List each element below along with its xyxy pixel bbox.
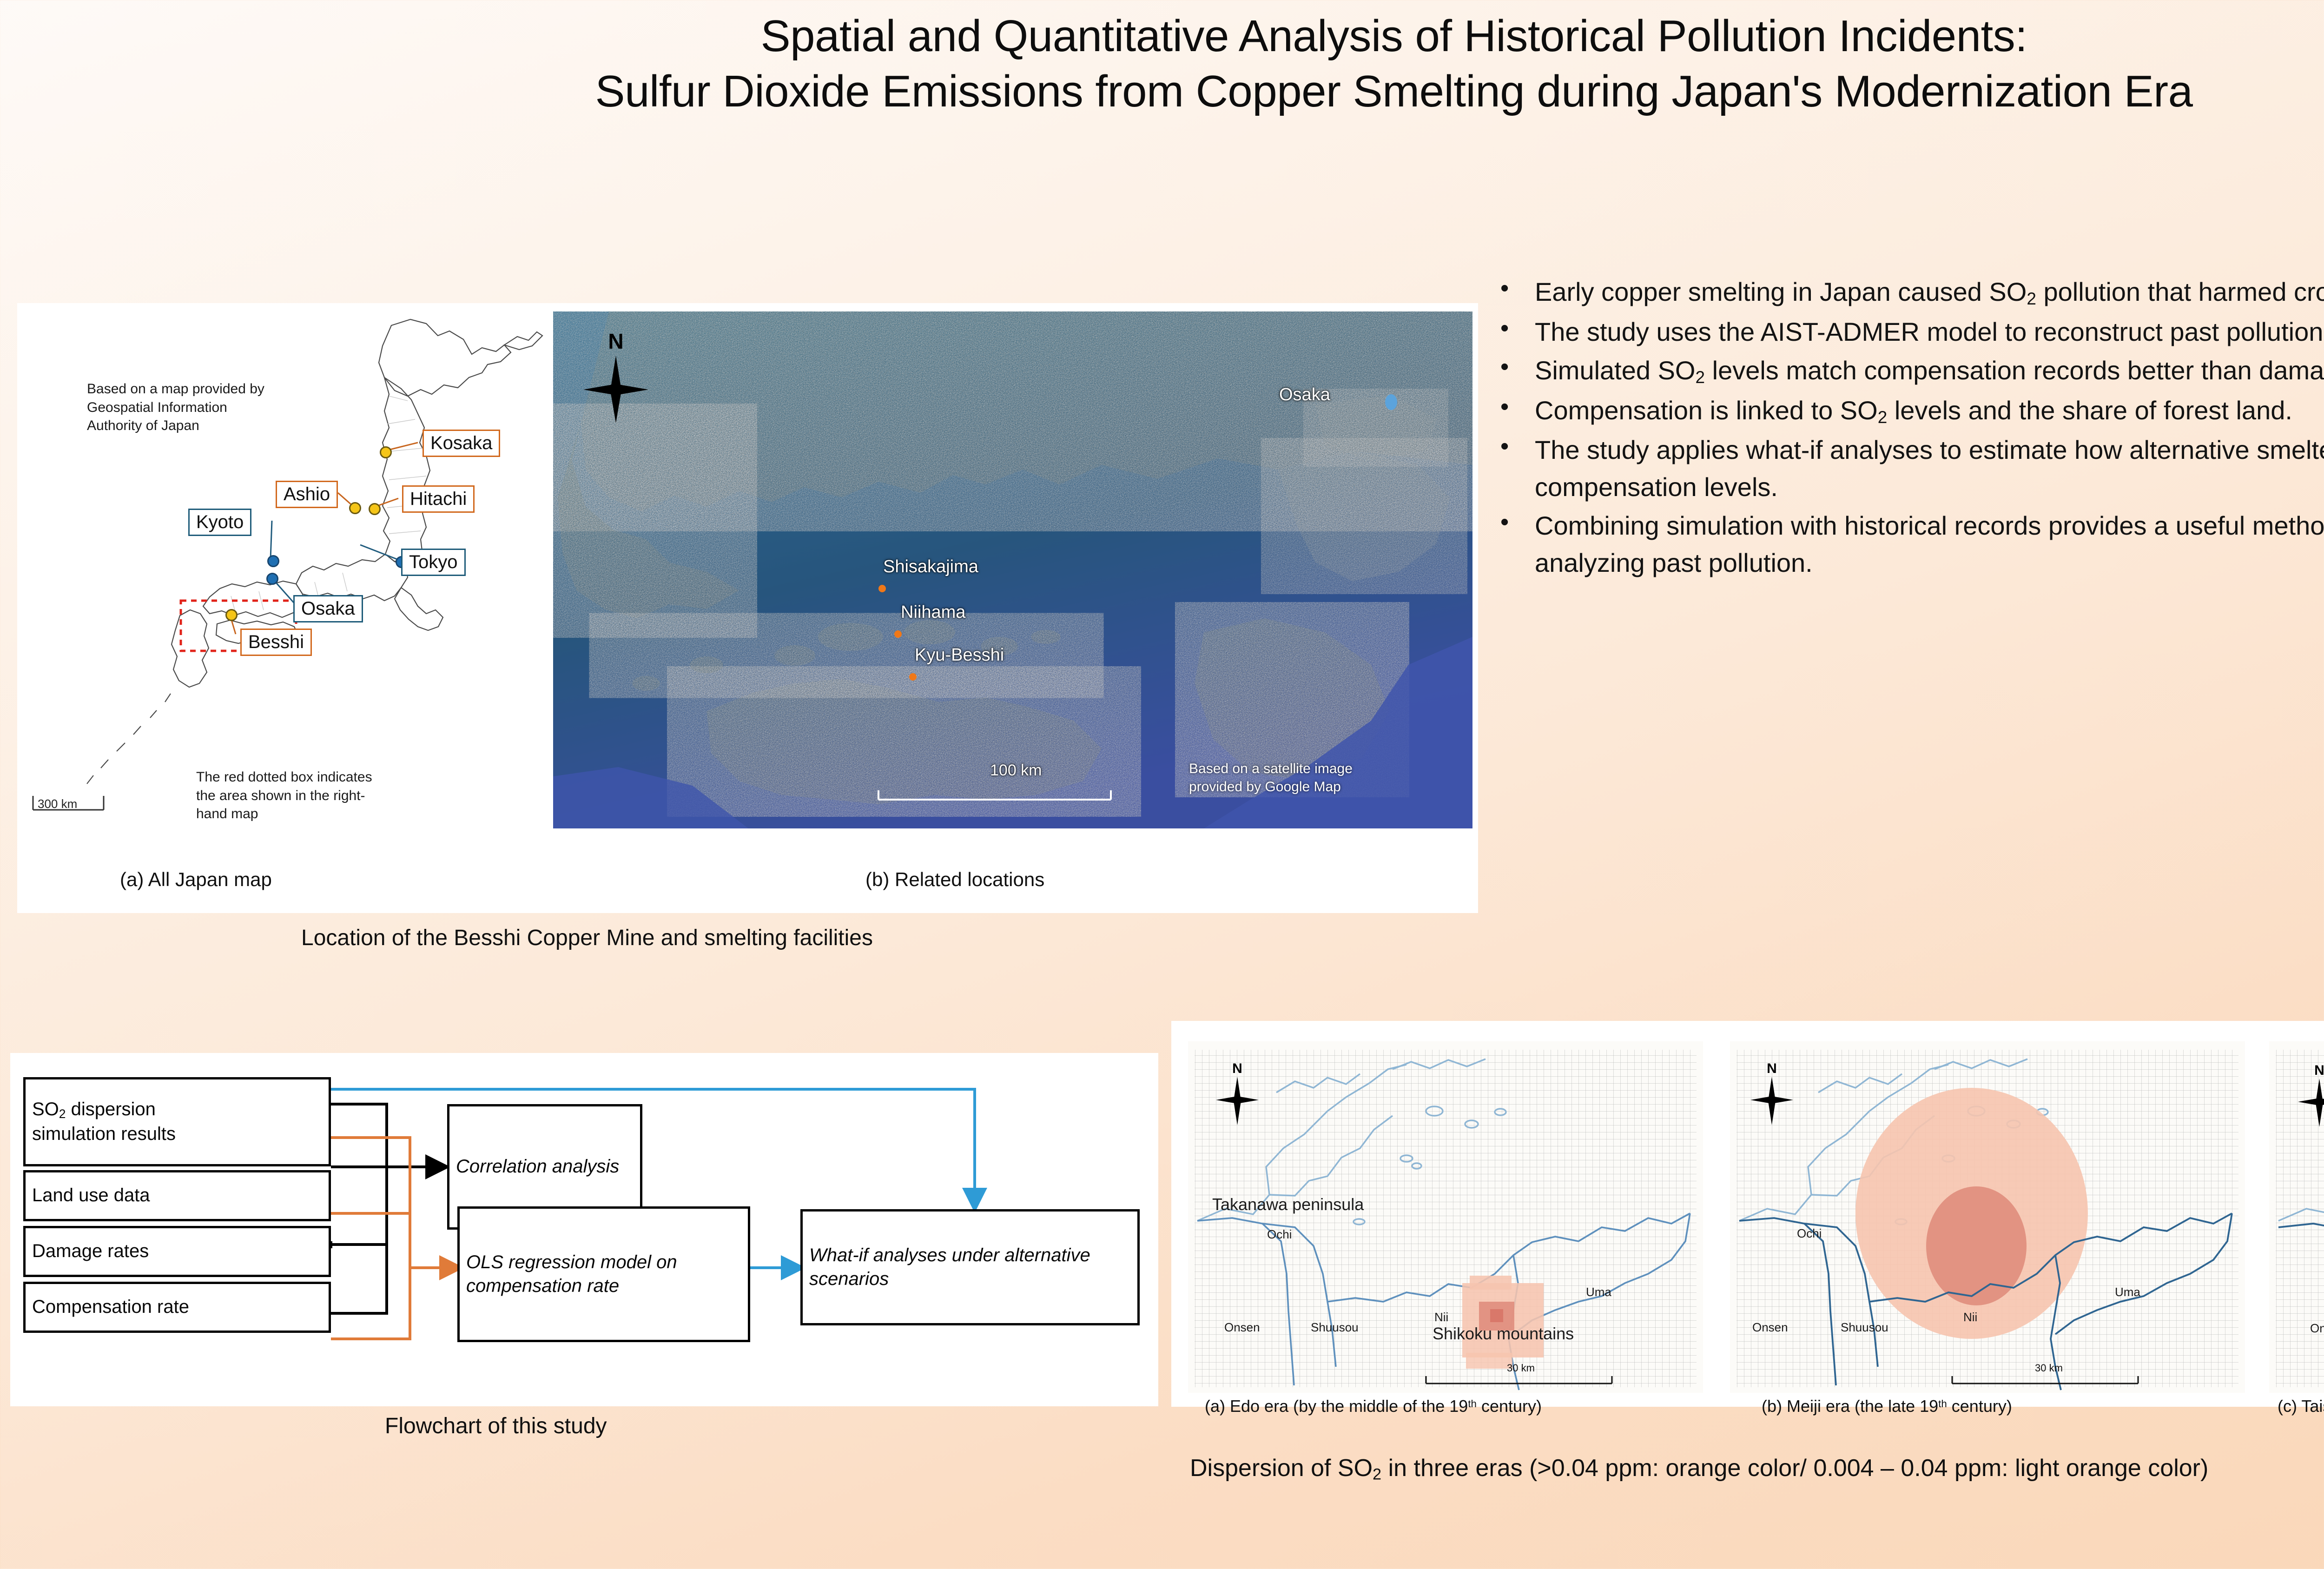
flow-box-correlation-analysis-label: Correlation analysis [449, 1155, 626, 1178]
key-findings-list: Early copper smelting in Japan caused SO… [1492, 273, 2324, 583]
japan-map-figure: Based on a map provided by Geospatial In… [17, 303, 547, 856]
flow-box-ols-regression: OLS regression model on compensation rat… [457, 1206, 750, 1342]
dispersion-label-shuusou: Shuusou [1841, 1320, 1888, 1335]
dispersion-label-uma: Uma [1586, 1285, 1611, 1299]
dispersion-label-onsen: Onsen [2310, 1321, 2324, 1336]
dispersion-caption-taisho: (c) Taishō era (the early 20th century) [2278, 1397, 2324, 1416]
map-label-ashio: Ashio [276, 481, 338, 508]
satellite-dot-niihama [894, 630, 902, 638]
dispersion-map-edo: N Takanawa peninsula Ochi Onsen Shuusou … [1188, 1041, 1703, 1393]
dispersion-caption-edo: (a) Edo era (by the middle of the 19th c… [1205, 1397, 1542, 1416]
subcaption-all-japan-map: (a) All Japan map [120, 868, 272, 891]
map-label-hitachi: Hitachi [402, 485, 475, 513]
dispersion-figure-caption: Dispersion of SO2 in three eras (>0.04 p… [1190, 1454, 2208, 1484]
svg-text:N: N [1232, 1061, 1242, 1076]
satellite-label-shisakajima: Shisakajima [883, 557, 978, 577]
svg-text:N: N [1767, 1061, 1777, 1076]
flow-box-compensation-rate: Compensation rate [23, 1282, 331, 1333]
flow-box-damage-rates: Damage rates [23, 1226, 331, 1277]
svg-text:N: N [2314, 1063, 2324, 1078]
dispersion-map-meiji-svg [1730, 1041, 2245, 1393]
bullet-item: Combining simulation with historical rec… [1492, 507, 2324, 581]
flowchart-figure: SO2 dispersionsimulation results Land us… [10, 1053, 1158, 1406]
city-dot-osaka [266, 573, 278, 585]
city-dot-kyoto [267, 555, 279, 567]
dispersion-label-shuusou: Shuusou [1311, 1320, 1359, 1335]
map-label-kosaka: Kosaka [423, 430, 500, 457]
flow-box-ols-regression-label: OLS regression model on compensation rat… [460, 1251, 748, 1298]
satellite-dot-kyu-besshi [909, 673, 917, 681]
site-dot-kosaka [380, 446, 392, 458]
dispersion-label-nii: Nii [1434, 1310, 1448, 1324]
dispersion-label-nii: Nii [1963, 1310, 1977, 1324]
map-label-tokyo: Tokyo [401, 549, 466, 576]
dispersion-label-ochi: Ochi [1267, 1227, 1292, 1242]
title-line-2: Sulfur Dioxide Emissions from Copper Sme… [0, 64, 2324, 119]
japan-map-source-note: Based on a map provided by Geospatial In… [87, 380, 264, 435]
map-label-besshi: Besshi [240, 629, 312, 656]
japan-map-redbox-note: The red dotted box indicates the area sh… [196, 768, 372, 823]
bullet-item: Compensation is linked to SO2 levels and… [1492, 392, 2324, 430]
flow-box-whatif-analyses: What-if analyses under alternative scena… [800, 1209, 1140, 1325]
flow-box-so2-dispersion: SO2 dispersionsimulation results [23, 1077, 331, 1166]
bullet-item: The study applies what-if analyses to es… [1492, 431, 2324, 505]
satellite-imagery [553, 311, 1472, 828]
page-title: Spatial and Quantitative Analysis of His… [0, 8, 2324, 119]
satellite-map-figure: N Osaka Shisakajima Niihama Kyu-Besshi 1… [553, 311, 1472, 828]
compass-rose-icon: N [1749, 1060, 1795, 1130]
dispersion-label-takanawa: Takanawa peninsula [1212, 1195, 1364, 1214]
flow-box-whatif-analyses-label: What-if analyses under alternative scena… [803, 1244, 1137, 1291]
site-dot-ashio [349, 502, 361, 514]
compass-rose-icon: N [1214, 1060, 1261, 1130]
satellite-credit: Based on a satellite image provided by G… [1189, 760, 1353, 796]
japan-map-scale-label: 300 km [38, 797, 77, 811]
dispersion-label-uma: Uma [2115, 1285, 2140, 1299]
flow-box-damage-rates-label: Damage rates [26, 1239, 155, 1263]
bullet-item: Early copper smelting in Japan caused SO… [1492, 273, 2324, 311]
satellite-label-kyu-besshi: Kyu-Besshi [915, 645, 1004, 665]
satellite-scale-label: 100 km [990, 761, 1042, 780]
dispersion-caption-meiji: (b) Meiji era (the late 19th century) [1762, 1397, 2012, 1416]
dispersion-map-meiji: N Ochi Onsen Shuusou Nii Uma 30 km [1730, 1041, 2245, 1393]
satellite-label-niihama: Niihama [901, 602, 965, 622]
figure-caption-maps: Location of the Besshi Copper Mine and s… [301, 925, 873, 951]
flow-box-compensation-rate-label: Compensation rate [26, 1295, 196, 1319]
dispersion-label-onsen: Onsen [1752, 1320, 1788, 1335]
flow-box-land-use: Land use data [23, 1170, 331, 1221]
dispersion-label-shikoku-mountains: Shikoku mountains [1433, 1324, 1574, 1344]
compass-rose-icon: N [2296, 1062, 2324, 1132]
title-line-1: Spatial and Quantitative Analysis of His… [0, 8, 2324, 64]
dispersion-scale-label-edo: 30 km [1507, 1362, 1535, 1374]
site-dot-besshi [225, 609, 238, 621]
svg-text:N: N [608, 330, 623, 353]
subcaption-related-locations: (b) Related locations [865, 868, 1044, 891]
site-dot-hitachi [369, 503, 381, 515]
satellite-dot-shisakajima [878, 585, 886, 592]
map-label-osaka: Osaka [293, 595, 363, 622]
dispersion-scale-label-meiji: 30 km [2035, 1362, 2063, 1374]
compass-rose-icon: N [576, 330, 655, 437]
satellite-label-osaka: Osaka [1279, 385, 1330, 405]
dispersion-label-ochi: Ochi [1797, 1226, 1822, 1241]
flowchart-caption: Flowchart of this study [385, 1413, 607, 1439]
map-label-kyoto: Kyoto [188, 509, 251, 536]
flow-box-so2-dispersion-label: SO2 dispersionsimulation results [26, 1098, 182, 1146]
bullet-item: The study uses the AIST-ADMER model to r… [1492, 313, 2324, 351]
dispersion-map-taisho: N Ochi Onsen Shuusou Nii Uma 30 km [2269, 1041, 2324, 1393]
flow-box-land-use-label: Land use data [26, 1184, 157, 1207]
dispersion-label-onsen: Onsen [1224, 1320, 1260, 1335]
bullet-item: Simulated SO2 levels match compensation … [1492, 352, 2324, 390]
satellite-dot-osaka [1385, 394, 1397, 410]
